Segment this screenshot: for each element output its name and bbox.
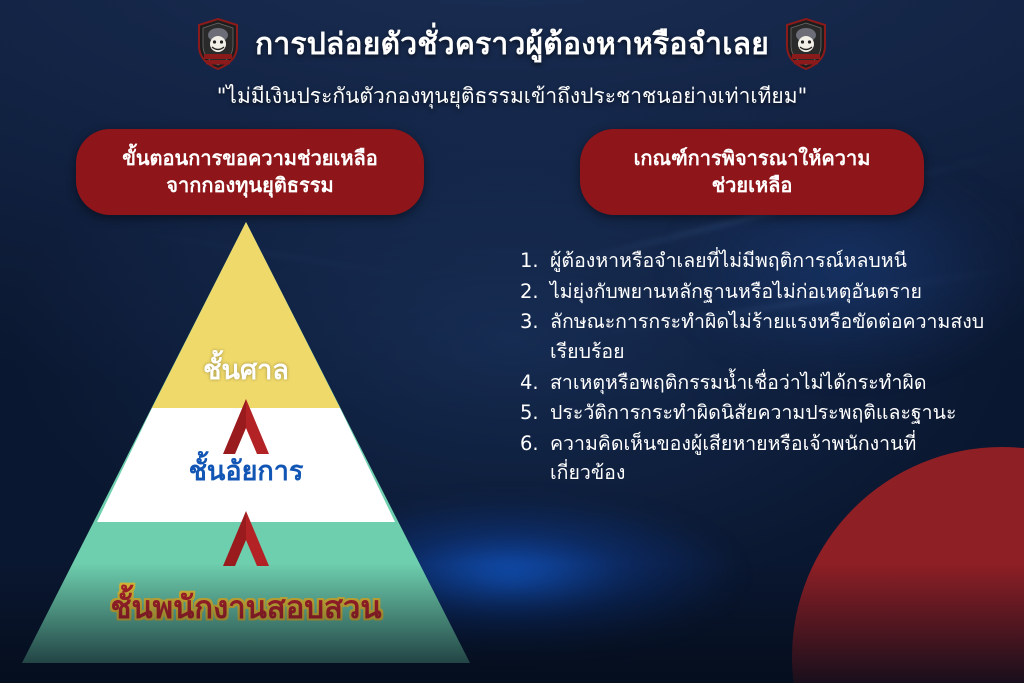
list-item-number: 2. <box>520 277 546 307</box>
panel-heading-process-line1: ขั้นตอนการขอความช่วยเหลือ <box>122 145 378 172</box>
infographic-canvas: การปล่อยตัวชั่วคราวผู้ต้องหาหรือจำเลย "ไ… <box>0 0 1024 683</box>
list-item-text: ลักษณะการกระทำผิดไม่ร้ายแรงหรือขัดต่อควา… <box>550 307 990 366</box>
panel-heading-criteria-line1: เกณฑ์การพิจารณาให้ความ <box>634 145 871 172</box>
page-title: การปล่อยตัวชั่วคราวผู้ต้องหาหรือจำเลย <box>255 21 769 68</box>
criteria-list: 1. ผู้ต้องหาหรือจำเลยที่ไม่มีพฤติการณ์หล… <box>520 246 990 489</box>
list-item: 5. ประวัติการกระทำผิดนิสัยความประพฤติและ… <box>520 398 990 428</box>
list-item: 2. ไม่ยุ่งกับพยานหลักฐานหรือไม่ก่อเหตุอั… <box>520 277 990 307</box>
list-item-text: ความคิดเห็นของผู้เสียหายหรือเจ้าพนักงานท… <box>550 429 990 488</box>
list-item-text: ไม่ยุ่งกับพยานหลักฐานหรือไม่ก่อเหตุอันตร… <box>550 277 990 307</box>
list-item-text: สาเหตุหรือพฤติกรรมน้ำเชื่อว่าไม่ได้กระทำ… <box>550 368 990 398</box>
list-item-number: 5. <box>520 398 546 428</box>
list-item: 6. ความคิดเห็นของผู้เสียหายหรือเจ้าพนักง… <box>520 429 990 488</box>
pyramid-level-court-shape <box>152 222 340 408</box>
panel-heading-criteria: เกณฑ์การพิจารณาให้ความ ช่วยเหลือ <box>580 129 924 215</box>
title-row: การปล่อยตัวชั่วคราวผู้ต้องหาหรือจำเลย <box>0 18 1024 70</box>
panel-heading-process-line2: จากกองทุนยุติธรรม <box>122 172 378 199</box>
list-item: 3. ลักษณะการกระทำผิดไม่ร้ายแรงหรือขัดต่อ… <box>520 307 990 366</box>
list-item-text: ประวัติการกระทำผิดนิสัยความประพฤติและฐาน… <box>550 398 990 428</box>
list-item-number: 3. <box>520 307 546 337</box>
police-shield-badge-icon <box>197 18 239 70</box>
list-item-text: ผู้ต้องหาหรือจำเลยที่ไม่มีพฤติการณ์หลบหน… <box>550 246 990 276</box>
list-item: 4. สาเหตุหรือพฤติกรรมน้ำเชื่อว่าไม่ได้กร… <box>520 368 990 398</box>
list-item-number: 6. <box>520 429 546 459</box>
panel-heading-criteria-line2: ช่วยเหลือ <box>634 172 871 199</box>
list-item-number: 1. <box>520 246 546 276</box>
list-item-number: 4. <box>520 368 546 398</box>
background-bottom-fade <box>0 563 1024 683</box>
police-shield-badge-icon <box>785 18 827 70</box>
list-item: 1. ผู้ต้องหาหรือจำเลยที่ไม่มีพฤติการณ์หล… <box>520 246 990 276</box>
page-subtitle: "ไม่มีเงินประกันตัวกองทุนยุติธรรมเข้าถึง… <box>0 80 1024 113</box>
panel-heading-process: ขั้นตอนการขอความช่วยเหลือ จากกองทุนยุติธ… <box>76 129 424 215</box>
